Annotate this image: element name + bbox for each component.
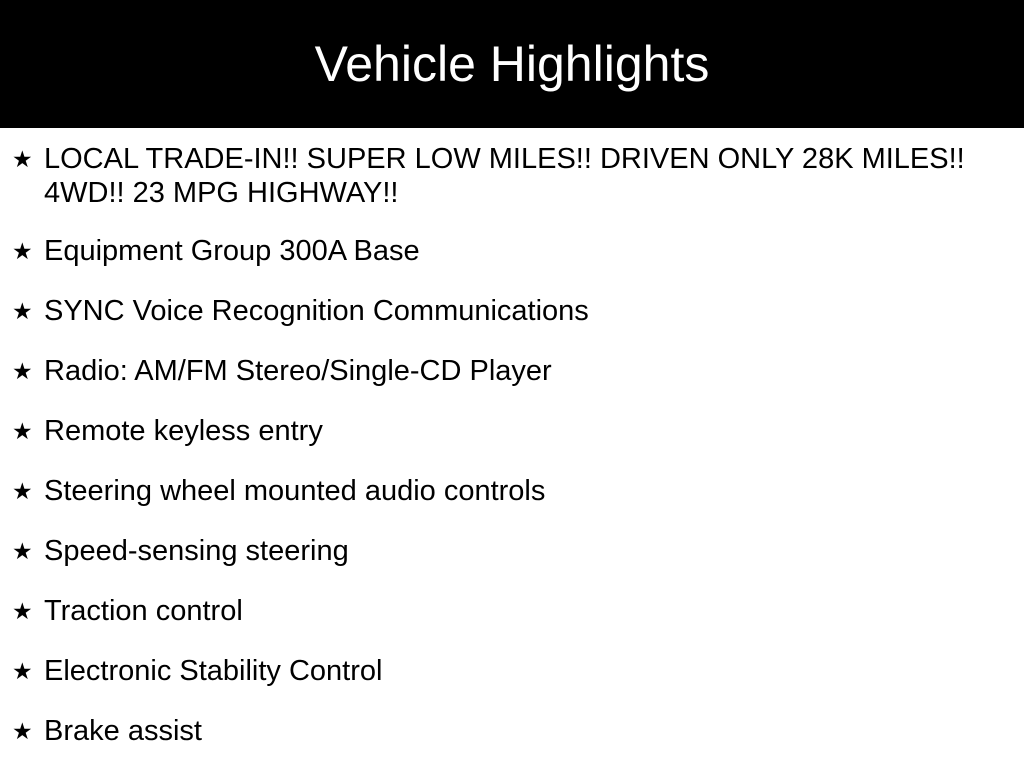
- list-item: ★ Radio: AM/FM Stereo/Single-CD Player: [0, 354, 1024, 388]
- page-header: Vehicle Highlights: [0, 0, 1024, 128]
- list-item-label: LOCAL TRADE-IN!! SUPER LOW MILES!! DRIVE…: [44, 142, 1000, 210]
- list-item-label: Radio: AM/FM Stereo/Single-CD Player: [44, 354, 1000, 388]
- list-item-label: SYNC Voice Recognition Communications: [44, 294, 1000, 328]
- list-item-label: Steering wheel mounted audio controls: [44, 474, 1000, 508]
- list-item: ★ LOCAL TRADE-IN!! SUPER LOW MILES!! DRI…: [0, 142, 1024, 210]
- star-icon: ★: [12, 142, 44, 176]
- star-icon: ★: [12, 414, 44, 448]
- list-item: ★ Remote keyless entry: [0, 414, 1024, 448]
- list-item-label: Brake assist: [44, 714, 1000, 748]
- list-item: ★ SYNC Voice Recognition Communications: [0, 294, 1024, 328]
- list-item: ★ Speed-sensing steering: [0, 534, 1024, 568]
- list-item: ★ Traction control: [0, 594, 1024, 628]
- star-icon: ★: [12, 534, 44, 568]
- star-icon: ★: [12, 594, 44, 628]
- list-item: ★ Steering wheel mounted audio controls: [0, 474, 1024, 508]
- star-icon: ★: [12, 654, 44, 688]
- vehicle-highlights-list: ★ LOCAL TRADE-IN!! SUPER LOW MILES!! DRI…: [0, 128, 1024, 774]
- list-item: ★ Electronic Stability Control: [0, 654, 1024, 688]
- list-item: ★ Brake assist: [0, 714, 1024, 748]
- list-item-label: Remote keyless entry: [44, 414, 1000, 448]
- list-item-label: Speed-sensing steering: [44, 534, 1000, 568]
- star-icon: ★: [12, 234, 44, 268]
- star-icon: ★: [12, 714, 44, 748]
- list-item-label: Traction control: [44, 594, 1000, 628]
- star-icon: ★: [12, 474, 44, 508]
- list-item-label: Electronic Stability Control: [44, 654, 1000, 688]
- list-item: ★ Equipment Group 300A Base: [0, 234, 1024, 268]
- page-title: Vehicle Highlights: [315, 39, 710, 89]
- star-icon: ★: [12, 354, 44, 388]
- vehicle-highlights-page: Vehicle Highlights ★ LOCAL TRADE-IN!! SU…: [0, 0, 1024, 768]
- list-item-label: Equipment Group 300A Base: [44, 234, 1000, 268]
- star-icon: ★: [12, 294, 44, 328]
